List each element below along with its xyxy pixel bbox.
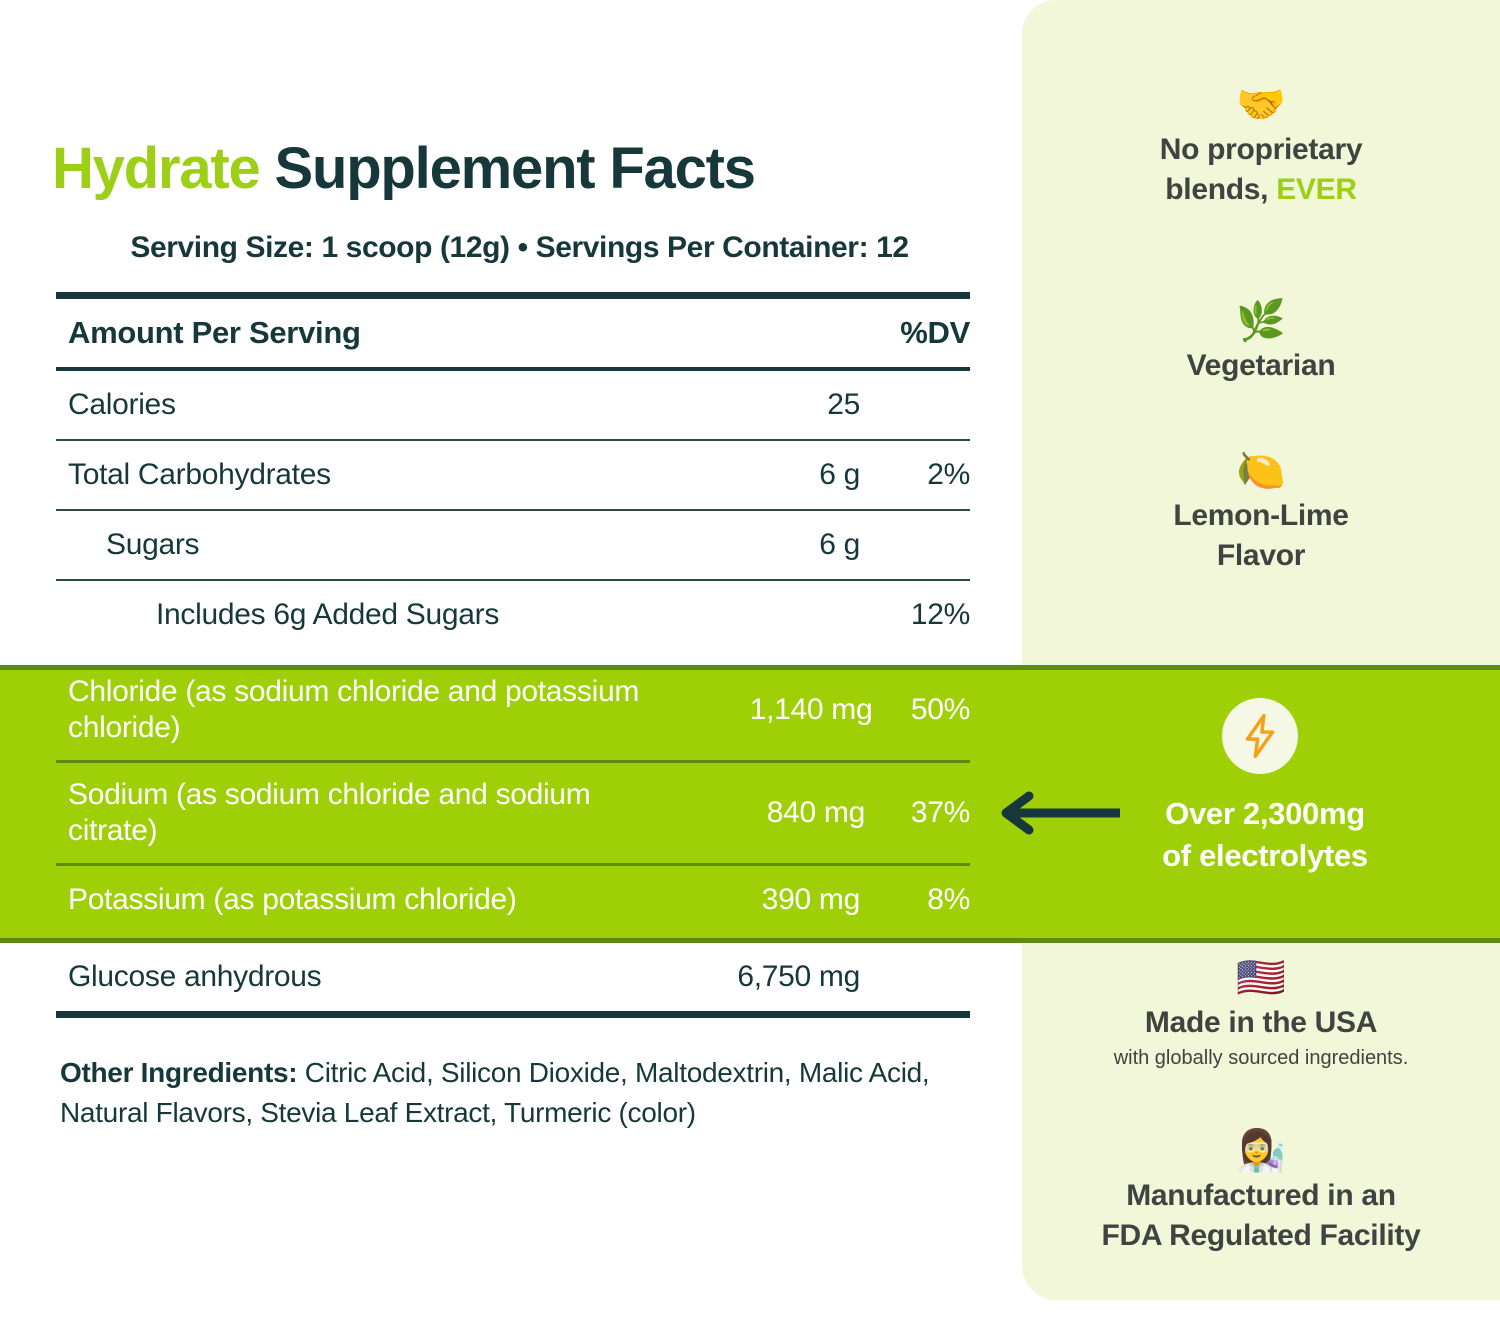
table-row: Glucose anhydrous 6,750 mg bbox=[56, 943, 970, 1011]
sidebar-item-text: No proprietary blends, EVER bbox=[1022, 130, 1500, 210]
nutrient-amount: 390 mg bbox=[645, 883, 860, 917]
sidebar-item-line1: Manufactured in an bbox=[1126, 1179, 1396, 1212]
electrolyte-callout-text: Over 2,300mg of electrolytes bbox=[1080, 793, 1450, 877]
sidebar-item-text: Made in the USA bbox=[1022, 1003, 1500, 1043]
sidebar-item-line2: blends, bbox=[1165, 173, 1276, 206]
nutrient-dv: 2% bbox=[860, 458, 970, 492]
nutrient-name: Total Carbohydrates bbox=[56, 457, 645, 493]
usa-flag-icon: 🇺🇸 bbox=[1022, 955, 1500, 1003]
handshake-icon: 🤝 bbox=[1022, 82, 1500, 130]
table-row: Calories 25 bbox=[56, 371, 970, 439]
nutrient-dv: 12% bbox=[860, 598, 970, 632]
nutrient-name: Glucose anhydrous bbox=[56, 959, 645, 995]
sidebar-item-subtext: with globally sourced ingredients. bbox=[1022, 1045, 1500, 1071]
sidebar-item-text: Lemon-Lime Flavor bbox=[1022, 496, 1500, 576]
sidebar-item-vegetarian: 🌿 Vegetarian bbox=[1022, 298, 1500, 386]
page-title-accent: Hydrate bbox=[52, 136, 260, 201]
nutrient-amount: 840 mg bbox=[660, 796, 865, 830]
scientist-icon: 👩‍🔬 bbox=[1022, 1128, 1500, 1176]
sidebar-item-line1: No proprietary bbox=[1160, 133, 1363, 166]
nutrient-name: Sodium (as sodium chloride and sodium ci… bbox=[56, 777, 660, 849]
nutrient-amount: 6 g bbox=[645, 528, 860, 562]
table-row: Total Carbohydrates 6 g 2% bbox=[56, 441, 970, 509]
nutrient-amount: 6,750 mg bbox=[645, 960, 860, 994]
electrolyte-rows-group: Chloride (as sodium chloride and potassi… bbox=[56, 649, 970, 943]
sidebar-item-line1: Lemon-Lime bbox=[1173, 499, 1348, 532]
sidebar-item-fda-facility: 👩‍🔬 Manufactured in an FDA Regulated Fac… bbox=[1022, 1128, 1500, 1256]
supplement-facts-table: Amount Per Serving %DV Calories 25 Total… bbox=[56, 292, 970, 1018]
sidebar-item-line2: Flavor bbox=[1217, 539, 1305, 572]
serving-size-line: Serving Size: 1 scoop (12g) • Servings P… bbox=[52, 228, 987, 268]
column-header-dv: %DV bbox=[860, 315, 970, 351]
page-title-rest: Supplement Facts bbox=[260, 136, 755, 201]
nutrient-name: Includes 6g Added Sugars bbox=[56, 597, 645, 633]
page-title: Hydrate Supplement Facts bbox=[52, 138, 992, 200]
nutrient-dv: 8% bbox=[860, 883, 970, 917]
nutrient-name: Sugars bbox=[56, 527, 645, 563]
herb-leaf-icon: 🌿 bbox=[1022, 298, 1500, 346]
table-row: Potassium (as potassium chloride) 390 mg… bbox=[56, 866, 970, 934]
lightning-bolt-icon bbox=[1240, 714, 1280, 758]
table-top-rule bbox=[56, 292, 970, 299]
nutrient-name: Potassium (as potassium chloride) bbox=[56, 882, 645, 918]
sidebar-item-line1: Vegetarian bbox=[1187, 349, 1336, 382]
sidebar-item-no-proprietary-blends: 🤝 No proprietary blends, EVER bbox=[1022, 82, 1500, 210]
sidebar-item-text: Vegetarian bbox=[1022, 346, 1500, 386]
nutrient-name: Chloride (as sodium chloride and potassi… bbox=[56, 674, 682, 746]
sidebar-item-line2: FDA Regulated Facility bbox=[1101, 1219, 1420, 1252]
column-header-amount-per-serving: Amount Per Serving bbox=[56, 315, 645, 351]
other-ingredients-paragraph: Other Ingredients: Citric Acid, Silicon … bbox=[60, 1053, 965, 1133]
lightning-bolt-badge bbox=[1222, 698, 1298, 774]
nutrient-amount: 1,140 mg bbox=[682, 693, 873, 727]
nutrient-name: Calories bbox=[56, 387, 645, 423]
callout-line1: Over 2,300mg bbox=[1165, 796, 1365, 831]
nutrient-amount: 6 g bbox=[645, 458, 860, 492]
callout-line2: of electrolytes bbox=[1162, 838, 1368, 873]
other-ingredients-label: Other Ingredients: bbox=[60, 1057, 297, 1088]
sidebar-item-line2-accent: EVER bbox=[1276, 173, 1357, 206]
table-row: Includes 6g Added Sugars 12% bbox=[56, 581, 970, 649]
table-header-row: Amount Per Serving %DV bbox=[56, 299, 970, 367]
table-row: Chloride (as sodium chloride and potassi… bbox=[56, 660, 970, 760]
lemon-icon: 🍋 bbox=[1022, 448, 1500, 496]
nutrient-dv: 50% bbox=[872, 693, 970, 727]
sidebar-item-made-in-usa: 🇺🇸 Made in the USA with globally sourced… bbox=[1022, 955, 1500, 1071]
nutrient-dv: 37% bbox=[865, 796, 970, 830]
sidebar-item-text: Manufactured in an FDA Regulated Facilit… bbox=[1022, 1176, 1500, 1256]
sidebar-item-line1: Made in the USA bbox=[1145, 1006, 1377, 1039]
table-bottom-rule bbox=[56, 1011, 970, 1018]
sidebar-item-lemon-lime-flavor: 🍋 Lemon-Lime Flavor bbox=[1022, 448, 1500, 576]
table-row: Sodium (as sodium chloride and sodium ci… bbox=[56, 763, 970, 863]
nutrient-amount: 25 bbox=[645, 388, 860, 422]
table-row: Sugars 6 g bbox=[56, 511, 970, 579]
